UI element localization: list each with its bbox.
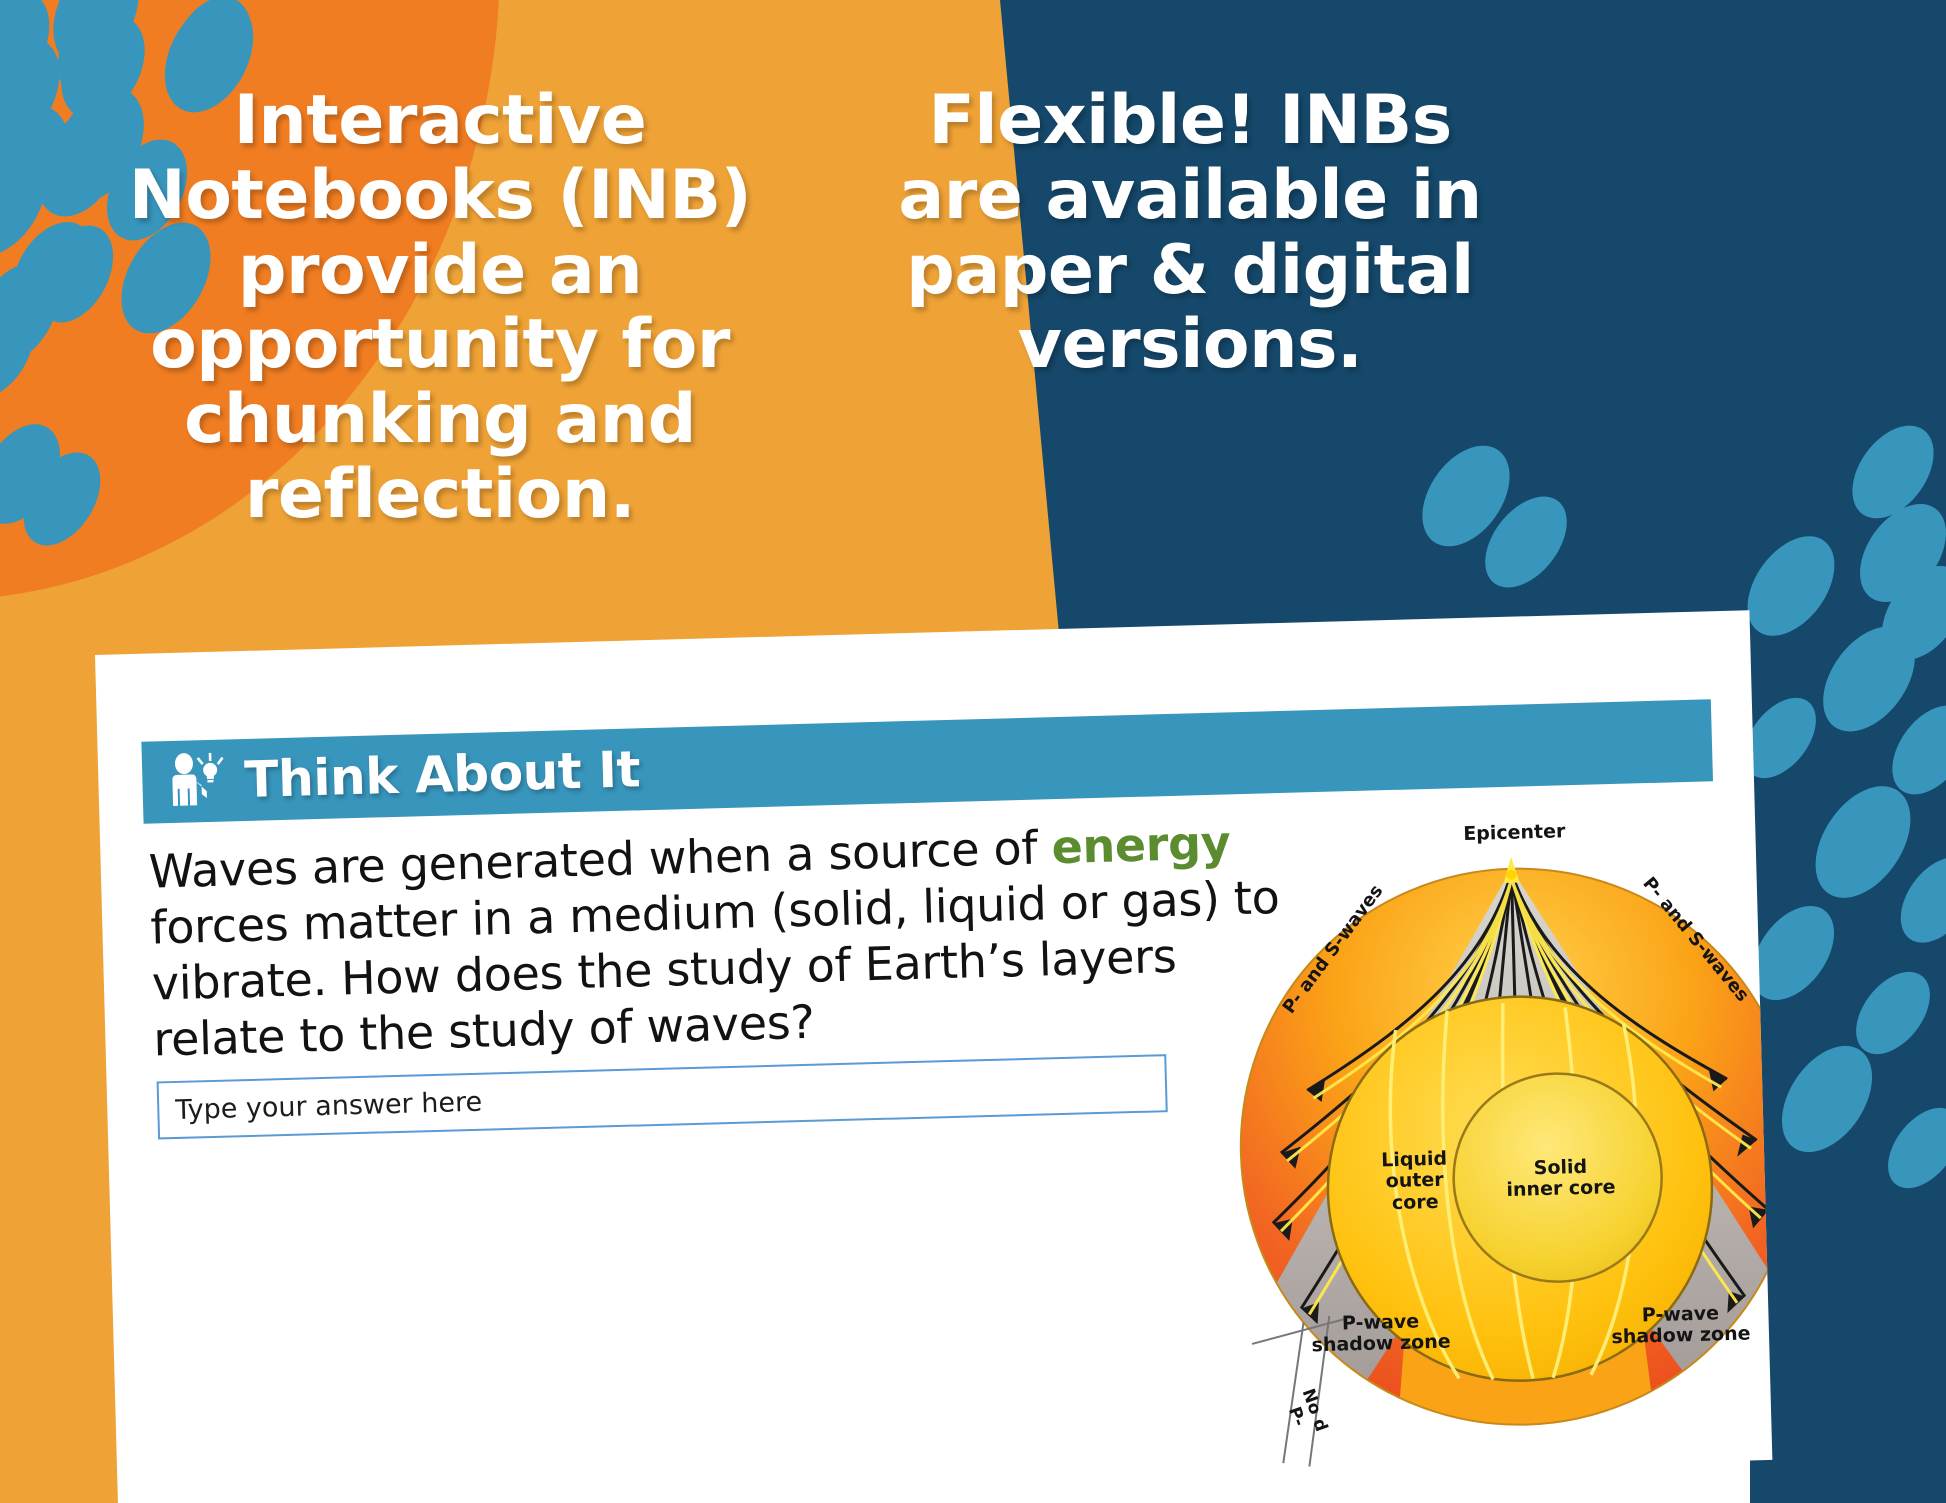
person-with-lightbulb-icon: [164, 748, 230, 814]
label-solid-inner-core: Solid inner core: [1487, 1156, 1634, 1202]
label-p-wave-shadow-zone-right: P-wave shadow zone: [1595, 1302, 1766, 1349]
answer-placeholder: Type your answer here: [175, 1086, 483, 1125]
headline-left: Interactive Notebooks (INB) provide an o…: [120, 84, 760, 533]
earth-seismic-diagram: Epicenter P- and S-waves P- and S-waves …: [1230, 809, 1772, 1474]
headline-right: Flexible! INBs are available in paper & …: [880, 84, 1500, 383]
think-about-it-card: Think About It Waves are generated when …: [95, 610, 1772, 1503]
label-p-wave-shadow-zone-left: P-wave shadow zone: [1295, 1310, 1466, 1357]
body-text-part2: forces matter in a medium (solid, liquid…: [150, 870, 1280, 1067]
card-header-bar: Think About It: [141, 699, 1713, 823]
label-epicenter: Epicenter: [1444, 821, 1585, 846]
body-text-highlight: energy: [1051, 815, 1231, 874]
label-liquid-outer-core: Liquid outer core: [1359, 1148, 1471, 1215]
card-title: Think About It: [244, 740, 641, 809]
slide-canvas: Interactive Notebooks (INB) provide an o…: [0, 0, 1946, 1503]
answer-input[interactable]: Type your answer here: [157, 1054, 1168, 1139]
card-body-text: Waves are generated when a source of ene…: [148, 812, 1314, 1068]
